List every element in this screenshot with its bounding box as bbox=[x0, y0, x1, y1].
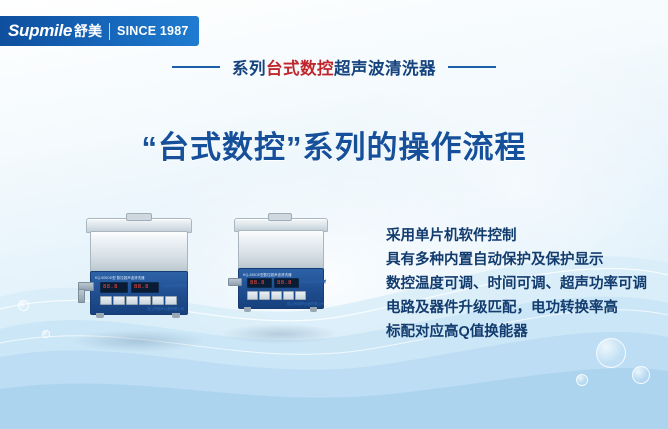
product-control-panel: KQ-250DE型数控超声波清洗器 88.8 88.8 Supmile舒美 昆山… bbox=[238, 268, 324, 309]
product-lid-handle bbox=[268, 213, 292, 221]
bubble-decoration bbox=[632, 366, 650, 384]
drain-valve bbox=[228, 278, 242, 286]
bubble-decoration bbox=[576, 374, 588, 386]
display-left: 88.8 bbox=[247, 278, 272, 288]
logo-brand-cn: 舒美 bbox=[74, 21, 102, 41]
panel-brand-mark: Supmile舒美 bbox=[301, 279, 326, 285]
product-lid-handle bbox=[126, 213, 152, 221]
panel-key[interactable] bbox=[283, 291, 294, 300]
product-image-large: KQ-500DE型 数控超声波清洗器 88.8 88.8 Supmile舒美 昆… bbox=[78, 210, 198, 342]
panel-company-text: 昆山市超声仪器有限公司 bbox=[147, 306, 184, 311]
panel-key[interactable] bbox=[259, 291, 270, 300]
drain-pipe bbox=[78, 289, 85, 303]
rule-right bbox=[448, 66, 496, 68]
product-foot bbox=[96, 313, 104, 318]
logo-since-text: SINCE 1987 bbox=[117, 24, 188, 38]
panel-key[interactable] bbox=[247, 291, 258, 300]
display-right: 88.8 bbox=[131, 282, 159, 293]
subtitle-row: 系列台式数控超声波清洗器 bbox=[0, 55, 668, 79]
product-shadow bbox=[222, 324, 338, 344]
panel-key[interactable] bbox=[152, 296, 164, 305]
subtitle-suffix: 超声波清洗器 bbox=[334, 60, 436, 78]
panel-model-label: KQ-250DE型数控超声波清洗器 bbox=[243, 272, 292, 277]
rule-left bbox=[172, 66, 220, 68]
display-right: 88.8 bbox=[274, 278, 299, 288]
product-foot bbox=[310, 307, 317, 312]
feature-item: 采用单片机软件控制 bbox=[386, 224, 656, 248]
logo-brand-en: Supmile bbox=[8, 21, 72, 41]
display-right-value: 88.8 bbox=[134, 285, 149, 291]
product-tank-body bbox=[90, 231, 188, 273]
slide-canvas: Supmile 舒美 SINCE 1987 系列台式数控超声波清洗器 “台式数控… bbox=[0, 0, 668, 429]
panel-key[interactable] bbox=[126, 296, 138, 305]
panel-brand-mark: Supmile舒美 bbox=[161, 283, 186, 289]
panel-key[interactable] bbox=[271, 291, 282, 300]
product-control-panel: KQ-500DE型 数控超声波清洗器 88.8 88.8 Supmile舒美 昆… bbox=[90, 271, 188, 315]
subtitle: 系列台式数控超声波清洗器 bbox=[232, 55, 436, 79]
product-tank-body bbox=[238, 230, 324, 270]
display-left-value: 88.8 bbox=[103, 285, 118, 291]
panel-key[interactable] bbox=[139, 296, 151, 305]
display-left: 88.8 bbox=[100, 282, 128, 293]
feature-item: 电路及器件升级匹配，电功转换率高 bbox=[386, 296, 656, 320]
product-shadow bbox=[72, 330, 204, 352]
panel-key[interactable] bbox=[295, 291, 306, 300]
panel-company-text: 昆山市超声仪器有限公司 bbox=[287, 301, 324, 306]
brand-logo: Supmile 舒美 SINCE 1987 bbox=[0, 16, 199, 46]
product-image-small: KQ-250DE型数控超声波清洗器 88.8 88.8 Supmile舒美 昆山… bbox=[228, 212, 332, 338]
page-title: “台式数控”系列的操作流程 bbox=[0, 122, 668, 167]
feature-item: 具有多种内置自动保护及保护显示 bbox=[386, 248, 656, 272]
panel-key[interactable] bbox=[165, 296, 177, 305]
product-foot bbox=[244, 307, 251, 312]
product-foot bbox=[172, 313, 180, 318]
display-right-value: 88.8 bbox=[277, 281, 292, 287]
bubble-decoration bbox=[18, 300, 29, 311]
subtitle-prefix: 系列 bbox=[232, 60, 266, 78]
feature-item: 标配对应高Q值换能器 bbox=[386, 320, 656, 344]
display-left-value: 88.8 bbox=[250, 281, 265, 287]
panel-key[interactable] bbox=[100, 296, 112, 305]
bubble-decoration bbox=[42, 330, 50, 338]
logo-divider bbox=[109, 23, 110, 40]
subtitle-highlight: 台式数控 bbox=[266, 60, 334, 78]
feature-item: 数控温度可调、时间可调、超声功率可调 bbox=[386, 272, 656, 296]
feature-list: 采用单片机软件控制 具有多种内置自动保护及保护显示 数控温度可调、时间可调、超声… bbox=[386, 224, 656, 344]
panel-model-label: KQ-500DE型 数控超声波清洗器 bbox=[95, 275, 145, 280]
panel-key[interactable] bbox=[113, 296, 125, 305]
